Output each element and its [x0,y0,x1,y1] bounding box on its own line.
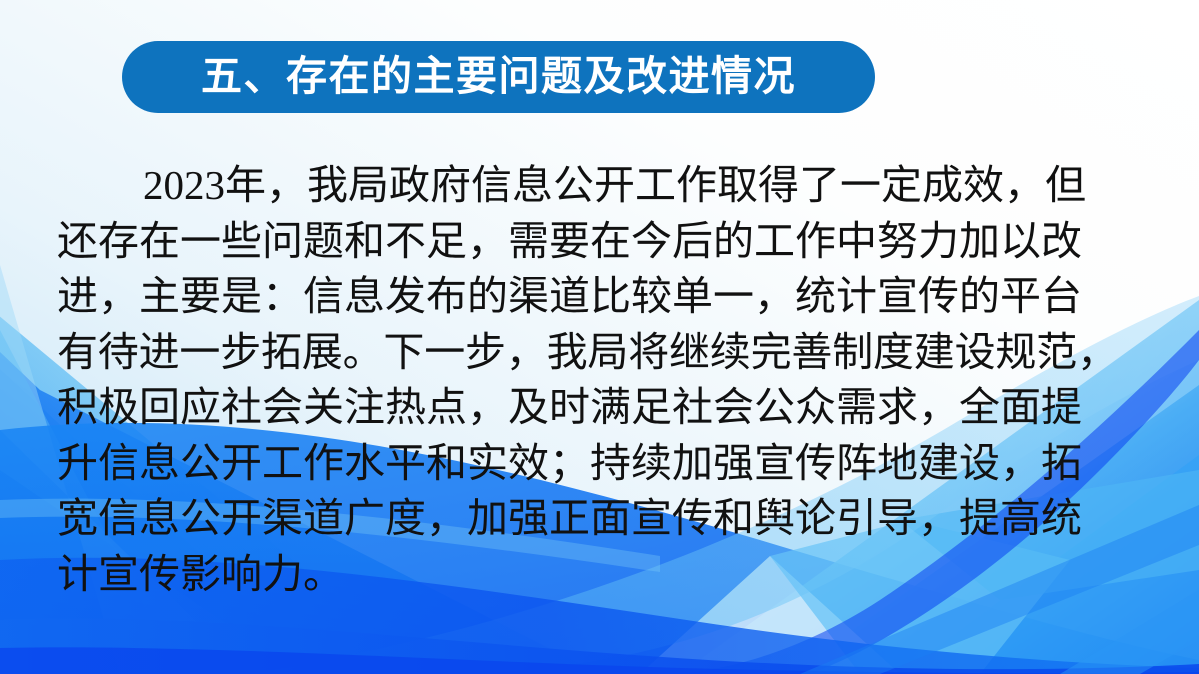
presentation-slide: 五、存在的主要问题及改进情况 2023年，我局政府信息公开工作取得了一定成效，但… [0,0,1199,674]
body-line: 升信息公开工作水平和实效；持续加强宣传阵地建设，拓 [57,436,1145,492]
body-line: 还存在一些问题和不足，需要在今后的工作中努力加以改 [57,214,1145,270]
body-paragraph: 2023年，我局政府信息公开工作取得了一定成效，但 还存在一些问题和不足，需要在… [57,158,1145,602]
body-line: 进，主要是：信息发布的渠道比较单一，统计宣传的平台 [57,269,1145,325]
section-title-banner: 五、存在的主要问题及改进情况 [122,41,875,113]
body-line: 积极回应社会关注热点，及时满足社会公众需求，全面提 [57,380,1145,436]
body-line: 计宣传影响力。 [57,547,1145,603]
body-line: 有待进一步拓展。下一步，我局将继续完善制度建设规范， [57,325,1145,381]
section-title-text: 五、存在的主要问题及改进情况 [201,56,796,99]
body-line: 2023年，我局政府信息公开工作取得了一定成效，但 [57,158,1145,214]
body-line: 宽信息公开渠道广度，加强正面宣传和舆论引导，提高统 [57,491,1145,547]
